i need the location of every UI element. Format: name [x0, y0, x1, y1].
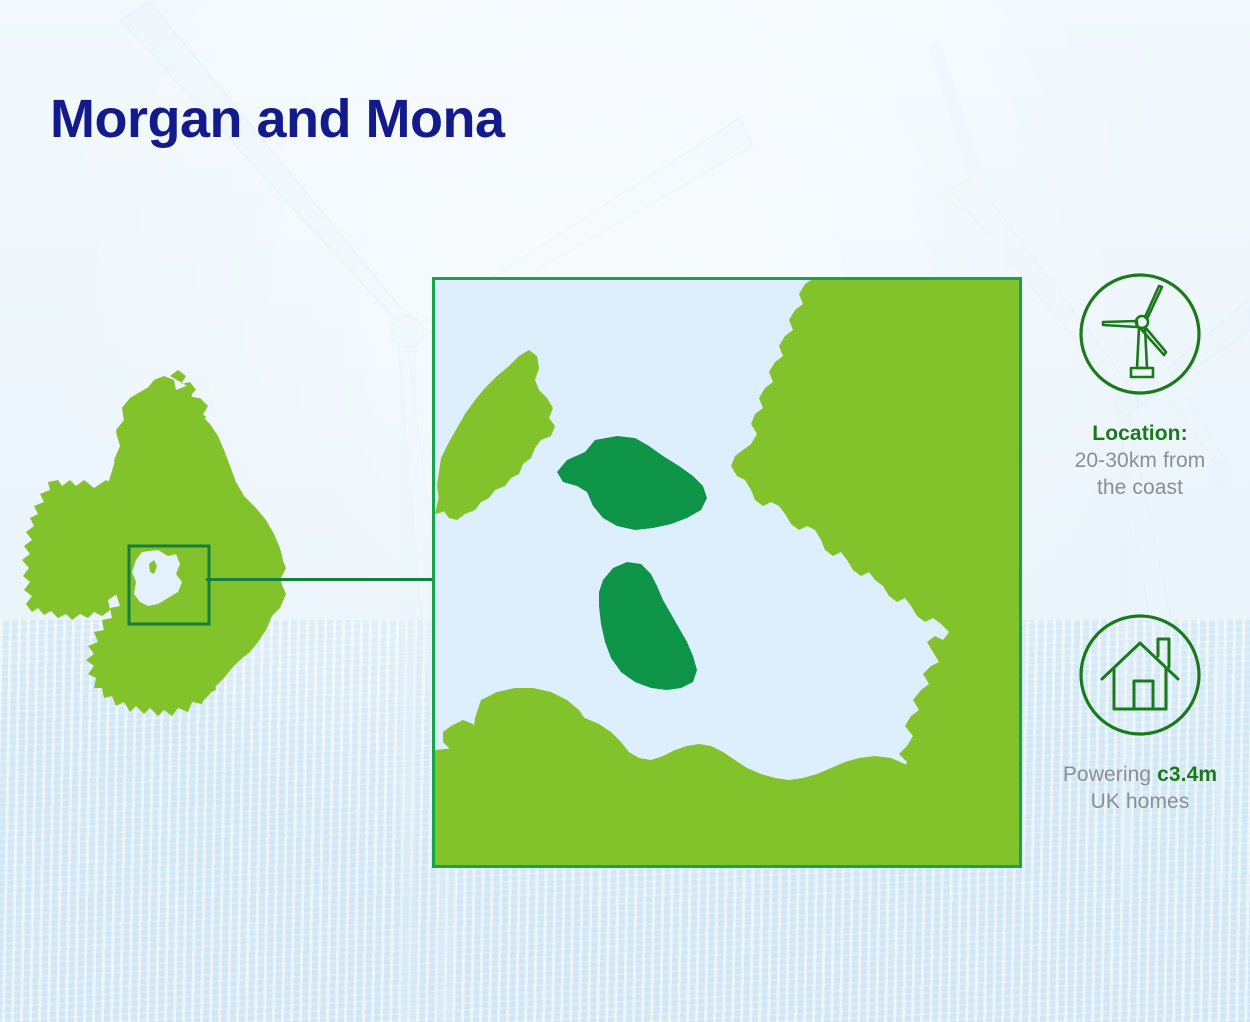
house-icon — [1076, 611, 1204, 739]
homes-line-2: UK homes — [1091, 790, 1190, 813]
wind-turbine-icon — [1076, 270, 1204, 398]
uk-ireland-locator-map — [18, 368, 318, 733]
callout-connector-line — [206, 578, 434, 581]
location-line-1: 20-30km from — [1075, 449, 1206, 472]
location-heading: Location: — [1092, 422, 1187, 445]
page-title: Morgan and Mona — [50, 88, 504, 150]
location-info-block: Location: 20-30km from the coast — [1040, 270, 1240, 501]
info-column: Location: 20-30km from the coast — [1040, 270, 1240, 815]
homes-prefix: Powering — [1063, 763, 1157, 786]
irish-sea-detail-map — [432, 277, 1022, 868]
location-text: Location: 20-30km from the coast — [1040, 420, 1240, 501]
homes-text: Powering c3.4m UK homes — [1040, 761, 1240, 815]
homes-value: c3.4m — [1157, 763, 1217, 786]
location-line-2: the coast — [1097, 476, 1183, 499]
infographic-stage: Morgan and Mona — [0, 0, 1250, 1022]
homes-info-block: Powering c3.4m UK homes — [1040, 611, 1240, 815]
